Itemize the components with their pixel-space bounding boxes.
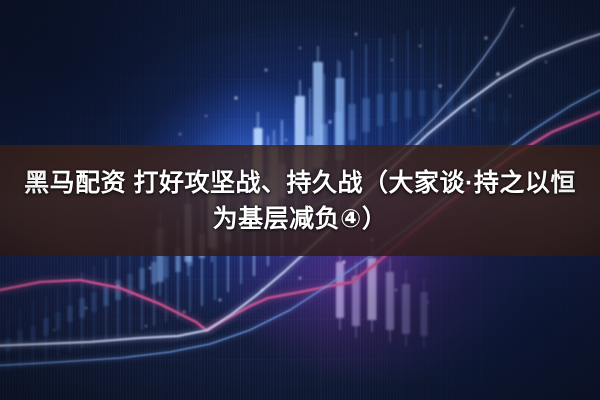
vignette (0, 0, 600, 400)
banner-image: 黑马配资 打好攻坚战、持久战（大家谈·持之以恒 为基层减负④） (0, 0, 600, 400)
